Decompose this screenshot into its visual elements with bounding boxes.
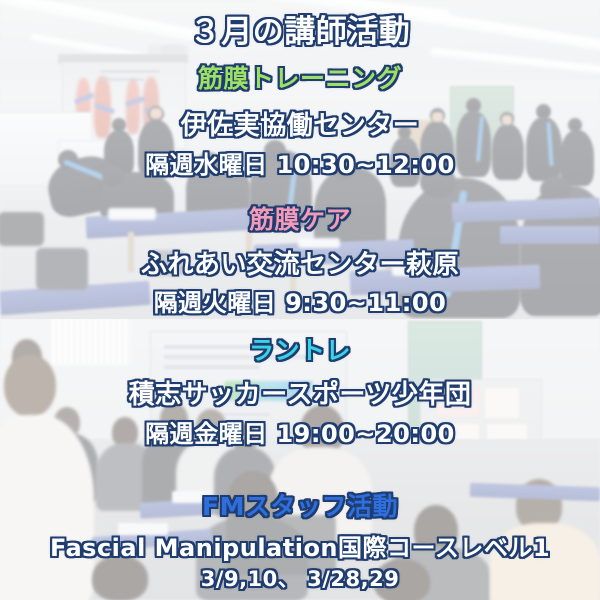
poster-root: ３月の講師活動 筋膜トレーニング 伊佐実協働センター 隔週水曜日 10:30~1… (0, 0, 600, 600)
section-heading-fascia-training: 筋膜トレーニング (0, 59, 600, 95)
section-schedule-fascia-care: 隔週火曜日 9:30~11:00 (0, 283, 600, 318)
section-schedule-run-training: 隔週金曜日 19:00~20:00 (0, 414, 600, 449)
page-title: ３月の講師活動 (0, 6, 600, 51)
section-heading-fm-staff: FMスタッフ活動 (0, 487, 600, 523)
section-venue-run-training: 積志サッカースポーツ少年団 (0, 374, 600, 411)
section-venue-fm-staff: Fascial Manipulation国際コースレベル1 (0, 528, 600, 563)
section-venue-fascia-care: ふれあい交流センター萩原 (0, 244, 600, 281)
section-schedule-fascia-training: 隔週水曜日 10:30~12:00 (0, 145, 600, 180)
section-venue-fascia-training: 伊佐実協働センター (0, 105, 600, 142)
section-heading-run-training: ラントレ (0, 331, 600, 367)
section-schedule-fm-staff: 3/9,10、 3/28,29 (0, 563, 600, 593)
text-layer: ３月の講師活動 筋膜トレーニング 伊佐実協働センター 隔週水曜日 10:30~1… (0, 0, 600, 600)
section-heading-fascia-care: 筋膜ケア (0, 200, 600, 236)
